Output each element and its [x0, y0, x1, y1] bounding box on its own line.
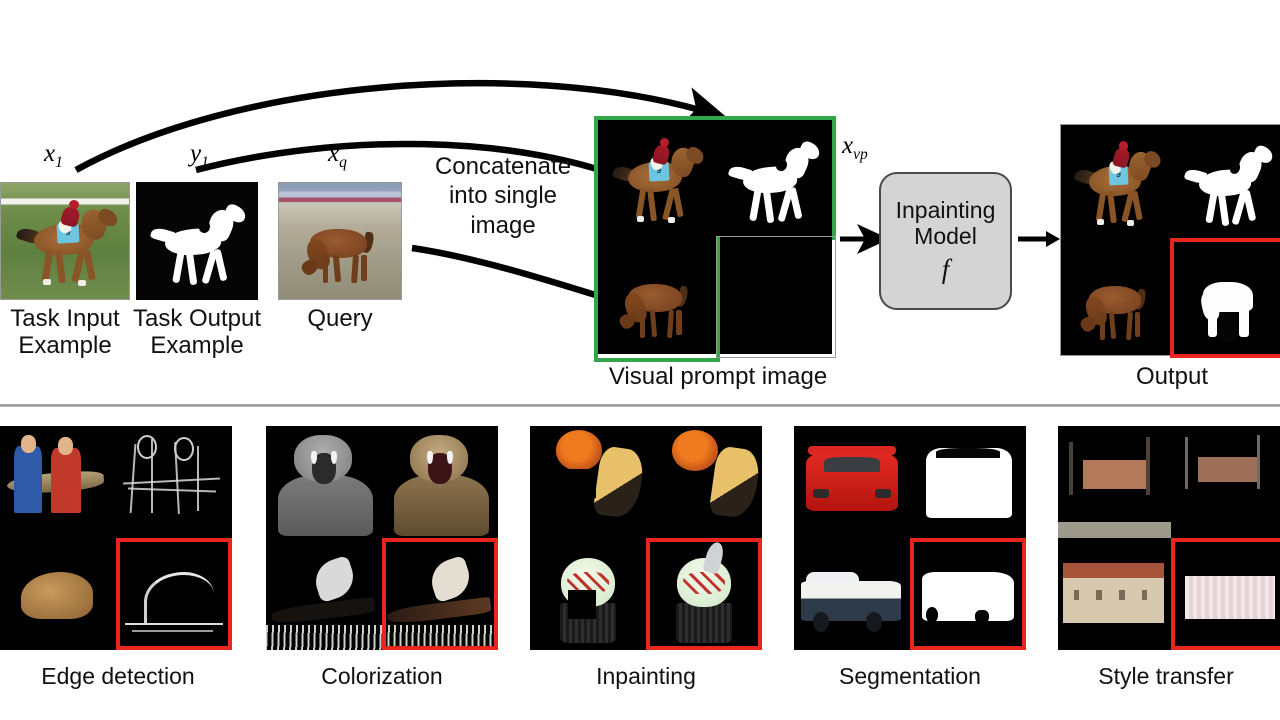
mask-leg [186, 250, 198, 286]
predicted-mask-gap [1219, 312, 1237, 342]
mask-leg [789, 186, 803, 218]
bear [21, 572, 93, 619]
horse-hoof [78, 280, 86, 286]
style-cell-bottom-right-prediction [1171, 538, 1280, 650]
output-image: 9 [1060, 124, 1280, 356]
wall [1063, 578, 1165, 623]
horse-leg [647, 188, 657, 221]
inpainting-model-box: Inpainting Model f [879, 172, 1012, 310]
label-xvp: xvp [842, 132, 868, 164]
thumb-task-input-example: 9 [0, 182, 130, 300]
suv-wheel [866, 612, 882, 632]
concatenate-label: Concatenate into single image [404, 152, 602, 240]
window [1074, 590, 1080, 600]
caption-query: Query [262, 306, 418, 333]
horse-leg [649, 309, 657, 336]
arrow-model-to-output [1016, 224, 1064, 254]
label-segmentation: Segmentation [784, 664, 1036, 690]
car-windshield [824, 457, 880, 472]
mask-leg [1242, 190, 1256, 222]
horse-leg [42, 250, 53, 281]
label-colorization: Colorization [256, 664, 508, 690]
butterfly-wing [593, 446, 646, 521]
thumb-task-output-example [136, 182, 258, 300]
caption-visual-prompt-image: Visual prompt image [560, 364, 876, 391]
out-cell-bottom-left [1060, 240, 1172, 356]
inpaint-cell-bottom-left [530, 538, 646, 650]
cougar-body [278, 475, 373, 535]
cougar-fang [331, 451, 337, 464]
mask-patch [568, 590, 596, 619]
horse-leg [323, 255, 329, 283]
jockey-cap [660, 138, 669, 147]
section-divider [0, 404, 1280, 407]
panel-colorization [266, 426, 498, 650]
vp-cell-top-left: 9 [598, 120, 715, 237]
building [1083, 460, 1146, 489]
model-line-2: Model [914, 224, 977, 250]
tree [1257, 435, 1260, 489]
person [51, 448, 81, 513]
caption-output: Output [1092, 364, 1252, 391]
horse-leg [676, 310, 681, 336]
butterfly-wing [709, 446, 762, 521]
thumb-query [278, 182, 402, 300]
visual-prompt-image: 9 [598, 120, 832, 354]
panel-edge-detection [0, 426, 232, 650]
horse-leg [333, 255, 341, 283]
person-head [58, 437, 73, 455]
cupcake-liner [676, 603, 732, 643]
edge-line [125, 623, 222, 625]
horse-leg [361, 255, 367, 281]
panel-segmentation [794, 426, 1026, 650]
bird [310, 555, 359, 603]
color-cell-top-left [266, 426, 382, 538]
tree [1185, 437, 1188, 489]
out-cell-bottom-right-prediction [1172, 240, 1280, 356]
inpaint-cell-bottom-right-prediction [646, 538, 762, 650]
horse-leg [1100, 312, 1105, 340]
horse-hoof [668, 217, 675, 223]
out-cell-top-left: 9 [1060, 124, 1172, 240]
out-cell-top-right [1172, 124, 1280, 240]
car-headlight [813, 489, 829, 498]
mask-leg [763, 188, 775, 224]
color-cell-bottom-left [266, 538, 382, 650]
label-xq: xq [328, 140, 347, 172]
model-function-symbol: f [942, 254, 950, 284]
model-line-1: Inpainting [896, 198, 996, 224]
panel-inpainting [530, 426, 762, 650]
horse-leg [667, 309, 674, 337]
horse-leg [1131, 191, 1142, 221]
panel-style-transfer [1058, 426, 1280, 650]
flower-cone [672, 430, 718, 470]
seg-cell-top-right [910, 426, 1026, 538]
building [1198, 457, 1257, 482]
horse-hoof [1127, 220, 1134, 226]
style-cell-top-left [1058, 426, 1171, 538]
horse-hoof [637, 216, 644, 222]
cupcake-sprinkles [683, 572, 725, 594]
edge-outline [144, 572, 214, 624]
horse-leg [640, 310, 645, 338]
car-headlight [875, 489, 891, 498]
edge-cell-top-right [116, 426, 232, 538]
branch [270, 597, 376, 625]
label-x1: x1 [44, 140, 63, 172]
edge-outline [137, 435, 157, 459]
color-cell-top-right [382, 426, 498, 538]
car-mask-gap [936, 448, 1001, 458]
suv-wheel [813, 612, 829, 632]
horse-leg [351, 255, 359, 284]
edge-line [130, 444, 137, 513]
horse-leg [1135, 312, 1140, 338]
horse-leg [1109, 312, 1116, 339]
label-edge-detection: Edge detection [0, 664, 248, 690]
inpaint-cell-top-right [646, 426, 762, 538]
window [1096, 590, 1102, 600]
horse-hoof [43, 279, 51, 285]
predicted-mask-leg [1239, 307, 1249, 337]
person-head [21, 435, 36, 453]
vp-cell-bottom-left [598, 237, 715, 354]
horse-leg [83, 250, 95, 280]
window [1142, 590, 1148, 600]
arrow-xq-to-prompt [412, 248, 618, 302]
edge-line [123, 477, 220, 484]
inpaint-cell-top-left [530, 426, 646, 538]
style-cell-bottom-left [1058, 538, 1171, 650]
predicted-mask-leg [1208, 307, 1217, 337]
jockey-cap [69, 200, 79, 209]
seg-cell-bottom-right-prediction [910, 538, 1026, 650]
person [14, 446, 42, 513]
flower-cone [556, 430, 602, 470]
color-cell-bottom-right-prediction [382, 538, 498, 650]
vp-cell-bottom-right-unknown [715, 237, 832, 354]
edge-line [132, 630, 213, 632]
jockey-cap [1119, 141, 1128, 150]
mask-leg [1205, 191, 1217, 224]
edge-cell-bottom-left [0, 538, 116, 650]
caption-task-output-example: Task Output Example [116, 306, 278, 360]
suv-mask-gap [975, 610, 989, 623]
roof [1063, 563, 1165, 579]
horse-leg [1096, 191, 1106, 222]
grass [266, 625, 382, 650]
path [1058, 522, 1171, 538]
figure-root: x1 9 Task Input Example y1 Task Output E… [0, 0, 1280, 720]
horse-hoof [1097, 219, 1104, 225]
window [1119, 590, 1125, 600]
suv-mask-gap [926, 607, 938, 623]
bird [426, 555, 475, 603]
cougar-body [394, 475, 489, 535]
label-style-transfer: Style transfer [1040, 664, 1280, 690]
mask-leg [750, 187, 763, 220]
style-cell-top-right [1171, 426, 1280, 538]
edge-cell-top-left [0, 426, 116, 538]
seg-cell-bottom-left [794, 538, 910, 650]
mask-leg [172, 250, 185, 284]
tree [1146, 437, 1149, 495]
mask-leg [213, 249, 227, 282]
horse-leg [1126, 312, 1133, 340]
label-inpainting: Inpainting [520, 664, 772, 690]
seg-cell-top-left [794, 426, 910, 538]
branch [386, 597, 492, 625]
mask-patch [568, 469, 596, 498]
grass [382, 625, 498, 650]
vp-cell-top-right [715, 120, 832, 237]
horse-leg [55, 250, 65, 284]
horse-leg [635, 188, 646, 219]
label-y1: y1 [190, 140, 209, 172]
horse-leg [672, 188, 683, 218]
edge-outline [174, 437, 194, 461]
cougar-fang [447, 451, 453, 464]
tree [1069, 442, 1072, 496]
edge-cell-bottom-right-prediction [116, 538, 232, 650]
edge-line [128, 487, 216, 492]
mask-leg [1218, 191, 1229, 226]
car-mask-shape [926, 448, 1012, 517]
stylized-drip [1185, 576, 1275, 619]
